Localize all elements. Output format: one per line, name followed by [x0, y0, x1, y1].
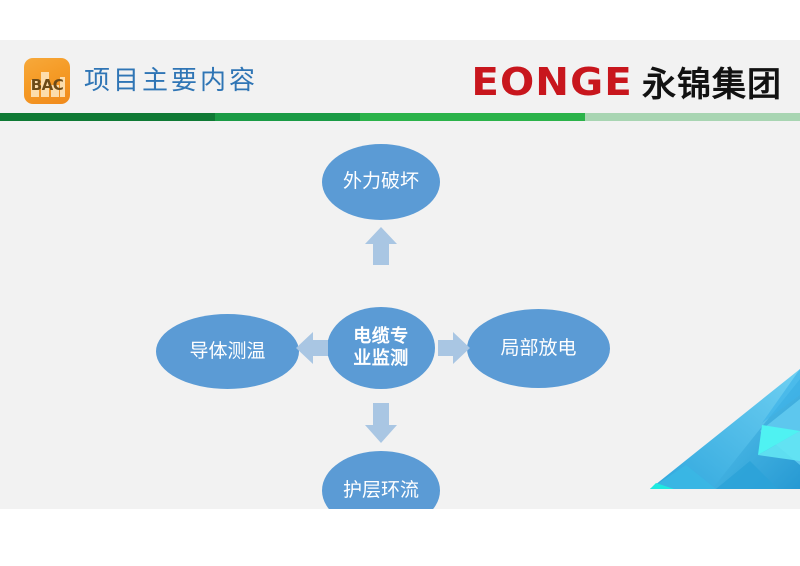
bac-logo-icon: BAC [24, 58, 70, 104]
node-sheath-circulating-current: 护层环流 [322, 451, 440, 509]
node-center-cable-monitoring: 电缆专 业监测 [327, 307, 435, 389]
node-external-damage: 外力破坏 [322, 144, 440, 220]
node-label: 导体测温 [189, 340, 265, 363]
brand-name-cn: 永锦集团 [642, 57, 782, 106]
bac-logo-label: BAC [24, 58, 70, 104]
node-label: 局部放电 [500, 337, 576, 360]
diagram-canvas: 外力破坏 导体测温 局部放电 护层环流 电缆专 业监测 [0, 121, 800, 509]
center-label-line-2: 业监测 [353, 348, 409, 370]
page-title: 项目主要内容 [84, 60, 258, 97]
node-conductor-temperature: 导体测温 [156, 314, 299, 389]
divider-segment-2 [215, 113, 360, 121]
center-label-line-1: 电缆专 [353, 326, 409, 348]
divider-segment-3 [360, 113, 585, 121]
node-partial-discharge: 局部放电 [467, 309, 610, 388]
node-label: 外力破坏 [343, 170, 419, 193]
slide-header: BAC 项目主要内容 EONGE 永锦集团 [0, 40, 800, 113]
node-label: 护层环流 [343, 479, 419, 502]
divider-segment-4 [585, 113, 800, 121]
header-divider-bar [0, 113, 800, 121]
brand-name-en: EONGE [471, 60, 632, 104]
company-brand-logo: EONGE 永锦集团 [476, 57, 782, 106]
divider-segment-1 [0, 113, 215, 121]
slide-canvas: BAC 项目主要内容 EONGE 永锦集团 外力破坏 导体测温 局部放电 护层环… [0, 40, 800, 509]
